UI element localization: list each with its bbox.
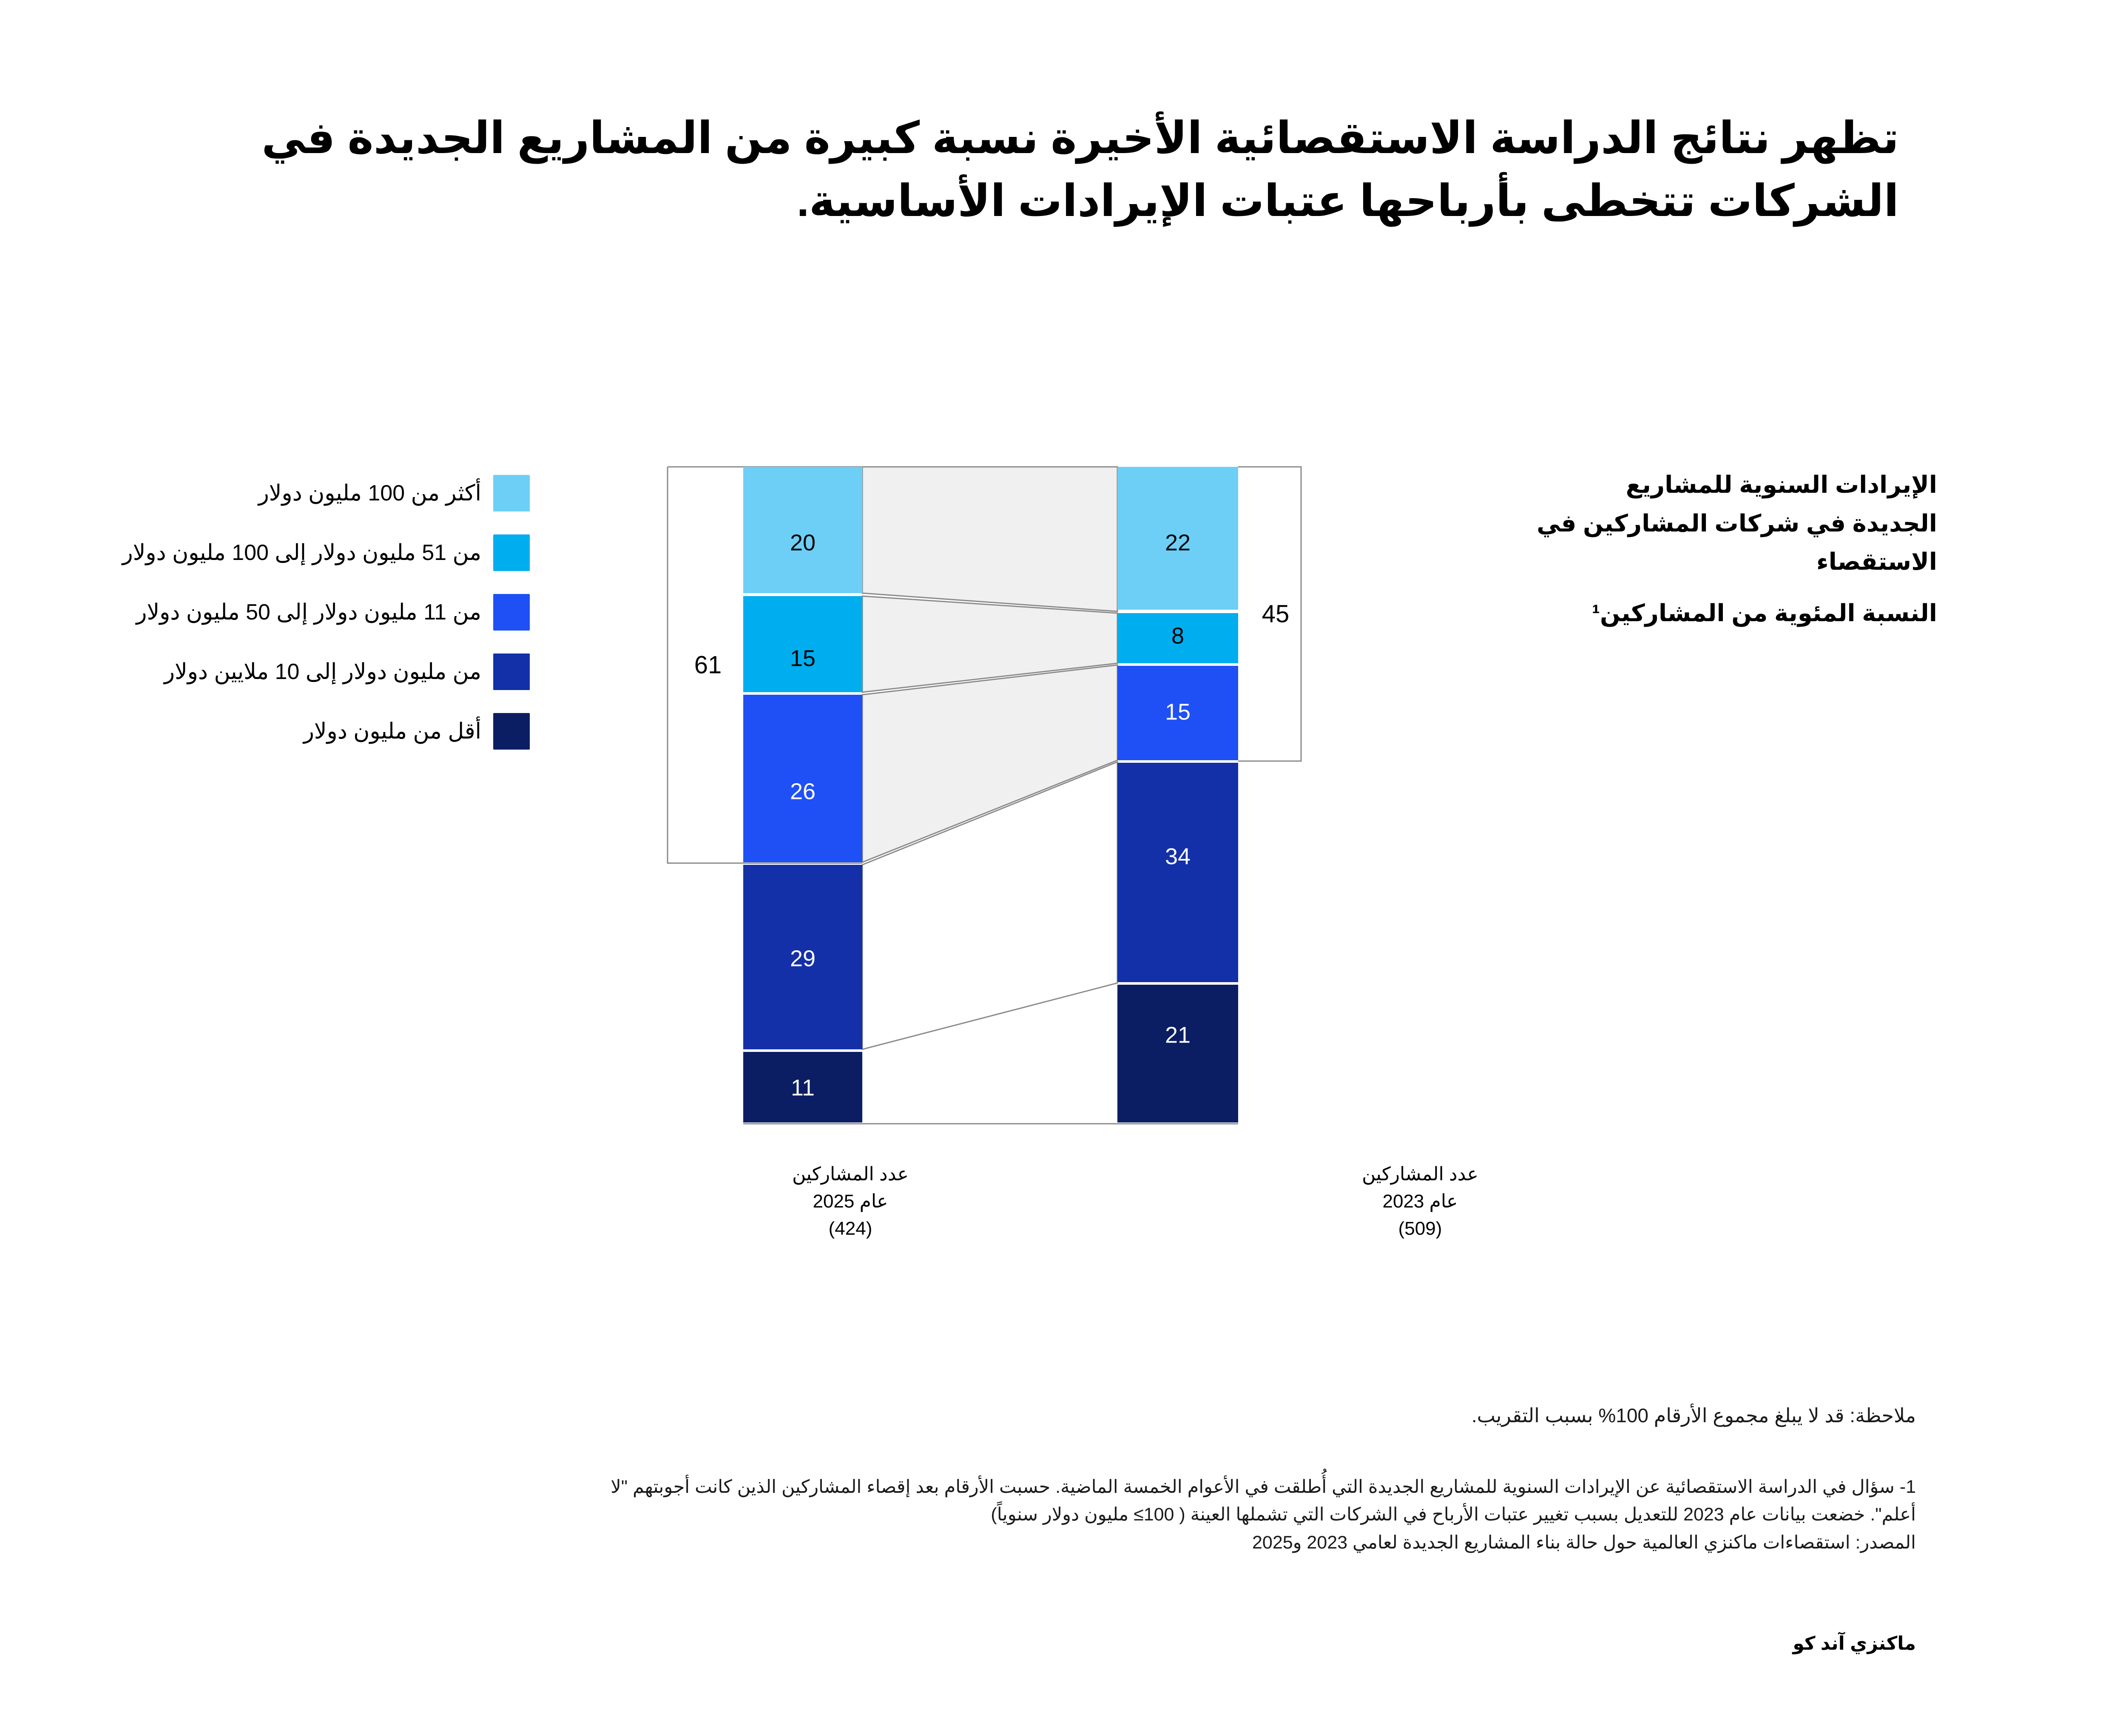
bar-segment-value: 20 bbox=[790, 530, 816, 555]
right-total-bracket: 45 bbox=[1238, 467, 1301, 761]
legend-item-label: من مليون دولار إلى 10 ملايين دولار bbox=[164, 658, 481, 686]
axis-caption-2025: عدد المشاركين عام 2025 (424) bbox=[753, 1161, 948, 1242]
bar-segment-value: 11 bbox=[791, 1075, 815, 1100]
bar-stack-2023: 22 8 15 34 21 bbox=[1117, 467, 1238, 1122]
bar-segment[interactable] bbox=[743, 596, 862, 692]
axis-caption-line-2: عام 2025 bbox=[753, 1188, 948, 1215]
legend-item[interactable]: من 51 مليون دولار إلى 100 مليون دولار bbox=[28, 523, 530, 582]
legend-item-label: من 51 مليون دولار إلى 100 مليون دولار bbox=[122, 539, 481, 567]
flow-ribbons bbox=[862, 467, 1117, 1049]
bar-segment-value: 15 bbox=[790, 645, 816, 671]
legend-swatch-icon bbox=[493, 475, 530, 511]
chart-header-line-3: الاستقصاء bbox=[1495, 543, 1937, 581]
bar-segment-value: 22 bbox=[1165, 530, 1191, 555]
legend-swatch-icon bbox=[493, 534, 530, 571]
chart-header-line-2: الجديدة في شركات المشاركين في bbox=[1495, 504, 1937, 543]
chart-header-line-1: الإيرادات السنوية للمشاريع bbox=[1495, 466, 1937, 504]
footnote-1: 1- سؤال في الدراسة الاستقصائية عن الإيرا… bbox=[202, 1473, 1916, 1501]
legend-item[interactable]: أكثر من 100 مليون دولار bbox=[28, 463, 530, 523]
footnote-2: أعلم". خضعت بيانات عام 2023 للتعديل بسبب… bbox=[202, 1501, 1916, 1529]
bar-segment[interactable] bbox=[1117, 985, 1238, 1122]
axis-caption-line-3: (509) bbox=[1322, 1215, 1518, 1242]
legend-swatch-icon bbox=[493, 594, 530, 631]
legend-swatch-icon bbox=[493, 653, 530, 690]
bar-segment-value: 21 bbox=[1165, 1022, 1191, 1048]
bar-segment-value: 8 bbox=[1171, 623, 1184, 648]
chart-header: الإيرادات السنوية للمشاريع الجديدة في شر… bbox=[1495, 466, 1937, 633]
legend-item-label: من 11 مليون دولار إلى 50 مليون دولار bbox=[136, 599, 481, 626]
bar-segment-value: 29 bbox=[790, 946, 816, 971]
legend-item[interactable]: من 11 مليون دولار إلى 50 مليون دولار bbox=[28, 582, 530, 642]
brand-logo: ماكنزي آند كو bbox=[1793, 1633, 1916, 1654]
sankey-stacked-bar-chart: 61 45 20 15 26 29 11 22 8 15 34 21 bbox=[663, 463, 1556, 1161]
page-title: تظهر نتائج الدراسة الاستقصائية الأخيرة ن… bbox=[75, 107, 1899, 233]
legend: أكثر من 100 مليون دولار من 51 مليون دولا… bbox=[28, 463, 530, 761]
chart-header-subtitle: النسبة المئوية من المشاركين¹ bbox=[1495, 594, 1937, 633]
legend-item[interactable]: أقل من مليون دولار bbox=[28, 702, 530, 761]
bar-segment[interactable] bbox=[1117, 763, 1238, 982]
bar-segment-value: 34 bbox=[1165, 844, 1191, 869]
axis-caption-line-3: (424) bbox=[753, 1215, 948, 1242]
chart-note: ملاحظة: قد لا يبلغ مجموع الأرقام 100% بس… bbox=[202, 1401, 1916, 1430]
bar-segment-value: 26 bbox=[790, 779, 816, 804]
legend-item[interactable]: من مليون دولار إلى 10 ملايين دولار bbox=[28, 642, 530, 702]
bar-segment-value: 15 bbox=[1165, 699, 1191, 725]
left-total-value: 61 bbox=[694, 651, 722, 679]
legend-item-label: أقل من مليون دولار bbox=[304, 718, 481, 745]
footnote-source: المصدر: استقصاءات ماكنزي العالمية حول حا… bbox=[202, 1529, 1916, 1557]
axis-caption-2023: عدد المشاركين عام 2023 (509) bbox=[1322, 1161, 1518, 1242]
flow-ribbon-top bbox=[862, 467, 1117, 611]
axis-caption-line-1: عدد المشاركين bbox=[1322, 1161, 1518, 1188]
bar-stack-2025: 20 15 26 29 11 bbox=[743, 467, 862, 1122]
axis-caption-line-1: عدد المشاركين bbox=[753, 1161, 948, 1188]
axis-caption-line-2: عام 2023 bbox=[1322, 1188, 1518, 1215]
footnotes: 1- سؤال في الدراسة الاستقصائية عن الإيرا… bbox=[202, 1473, 1916, 1557]
right-total-value: 45 bbox=[1262, 600, 1290, 628]
legend-item-label: أكثر من 100 مليون دولار bbox=[259, 480, 481, 507]
legend-swatch-icon bbox=[493, 713, 530, 750]
